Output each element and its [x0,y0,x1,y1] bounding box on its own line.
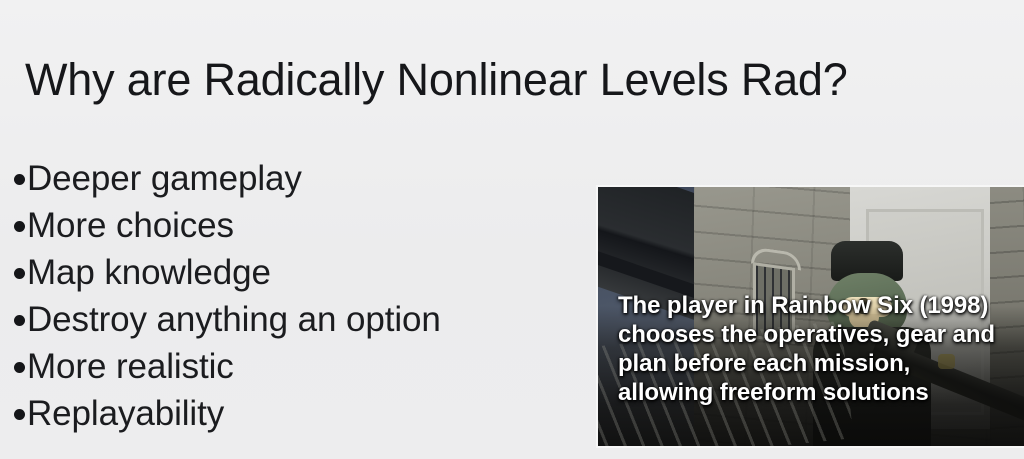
bullet-dot-icon [14,221,25,232]
bullet-dot-icon [14,174,25,185]
game-screenshot-figure: The player in Rainbow Six (1998) chooses… [596,185,1024,448]
list-item: Map knowledge [14,253,534,300]
list-item: More choices [14,206,534,253]
list-item: Destroy anything an option [14,300,534,347]
bullet-label: More choices [27,206,234,246]
bullet-label: Destroy anything an option [27,300,441,340]
bullet-label: Map knowledge [27,253,271,293]
bullet-dot-icon [14,268,25,279]
bullet-label: Deeper gameplay [27,159,302,199]
page-title: Why are Radically Nonlinear Levels Rad? [25,54,848,106]
bullet-label: Replayability [27,394,224,434]
bullet-dot-icon [14,362,25,373]
list-item: Replayability [14,394,534,441]
figure-caption: The player in Rainbow Six (1998) chooses… [618,291,1010,407]
benefits-bullet-list: Deeper gameplay More choices Map knowled… [14,159,534,441]
bullet-dot-icon [14,409,25,420]
list-item: Deeper gameplay [14,159,534,206]
list-item: More realistic [14,347,534,394]
bullet-dot-icon [14,315,25,326]
bullet-label: More realistic [27,347,234,387]
game-screenshot-image: The player in Rainbow Six (1998) chooses… [598,187,1024,446]
slide: Why are Radically Nonlinear Levels Rad? … [0,0,1024,459]
